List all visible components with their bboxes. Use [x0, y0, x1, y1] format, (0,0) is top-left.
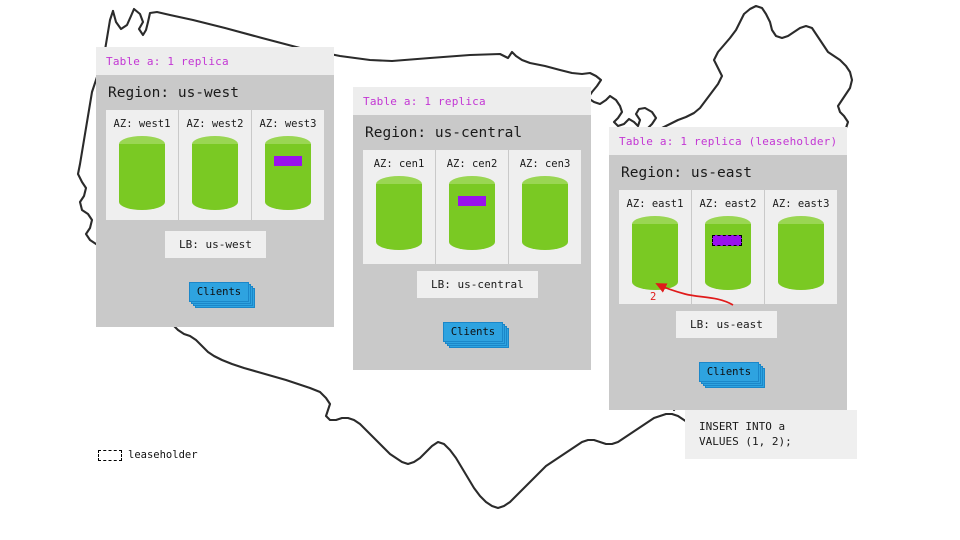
database-cylinder-icon[interactable]: [632, 216, 678, 288]
load-balancer-us-east[interactable]: LB: us-east: [676, 311, 777, 338]
clients-label: Clients: [189, 282, 249, 302]
sql-statement-box: INSERT INTO a VALUES (1, 2);: [685, 410, 857, 459]
az-cell-west1[interactable]: AZ: west1: [106, 110, 178, 220]
az-cell-cen3[interactable]: AZ: cen3: [508, 150, 581, 264]
az-label: AZ: east3: [769, 198, 833, 210]
az-label: AZ: east2: [696, 198, 760, 210]
region-title: Region: us-east: [609, 155, 847, 190]
database-cylinder-icon[interactable]: [705, 216, 751, 288]
az-row: AZ: cen1 AZ: cen2 AZ: cen3: [363, 150, 581, 264]
diagram-canvas: Table a: 1 replica Region: us-west AZ: w…: [0, 0, 960, 540]
az-label: AZ: cen1: [367, 158, 431, 170]
clients-stack-us-central[interactable]: Clients: [443, 322, 505, 343]
clients-label: Clients: [443, 322, 503, 342]
az-cell-east1[interactable]: AZ: east1: [619, 190, 691, 304]
database-cylinder-icon[interactable]: [778, 216, 824, 288]
region-title: Region: us-west: [96, 75, 334, 110]
az-label: AZ: west3: [256, 118, 320, 130]
az-cell-east2[interactable]: AZ: east2: [691, 190, 764, 304]
az-cell-cen1[interactable]: AZ: cen1: [363, 150, 435, 264]
az-cell-west2[interactable]: AZ: west2: [178, 110, 251, 220]
database-cylinder-icon[interactable]: [449, 176, 495, 248]
az-row: AZ: west1 AZ: west2 AZ: west3: [106, 110, 324, 220]
az-label: AZ: cen3: [513, 158, 577, 170]
database-cylinder-icon[interactable]: [522, 176, 568, 248]
az-cell-east3[interactable]: AZ: east3: [764, 190, 837, 304]
az-label: AZ: cen2: [440, 158, 504, 170]
clients-label: Clients: [699, 362, 759, 382]
load-balancer-us-central[interactable]: LB: us-central: [417, 271, 538, 298]
az-label: AZ: west2: [183, 118, 247, 130]
clients-stack-us-west[interactable]: Clients: [189, 282, 251, 303]
replica-marker: [274, 156, 302, 166]
database-cylinder-icon[interactable]: [376, 176, 422, 248]
panel-header-replica-info: Table a: 1 replica: [96, 47, 334, 75]
legend: leaseholder: [98, 449, 198, 461]
az-row: AZ: east1 AZ: east2 AZ: east3: [619, 190, 837, 304]
az-label: AZ: west1: [110, 118, 174, 130]
az-cell-cen2[interactable]: AZ: cen2: [435, 150, 508, 264]
leaseholder-swatch-icon: [98, 450, 122, 461]
az-cell-west3[interactable]: AZ: west3: [251, 110, 324, 220]
legend-label: leaseholder: [128, 449, 198, 461]
leaseholder-replica-marker: [712, 235, 742, 246]
clients-stack-us-east[interactable]: Clients: [699, 362, 761, 383]
replica-marker: [458, 196, 486, 206]
arrow-step-label: 2: [650, 291, 656, 303]
panel-header-replica-info: Table a: 1 replica: [353, 87, 591, 115]
database-cylinder-icon[interactable]: [265, 136, 311, 208]
panel-header-replica-info: Table a: 1 replica (leaseholder): [609, 127, 847, 155]
database-cylinder-icon[interactable]: [192, 136, 238, 208]
database-cylinder-icon[interactable]: [119, 136, 165, 208]
region-title: Region: us-central: [353, 115, 591, 150]
az-label: AZ: east1: [623, 198, 687, 210]
load-balancer-us-west[interactable]: LB: us-west: [165, 231, 266, 258]
